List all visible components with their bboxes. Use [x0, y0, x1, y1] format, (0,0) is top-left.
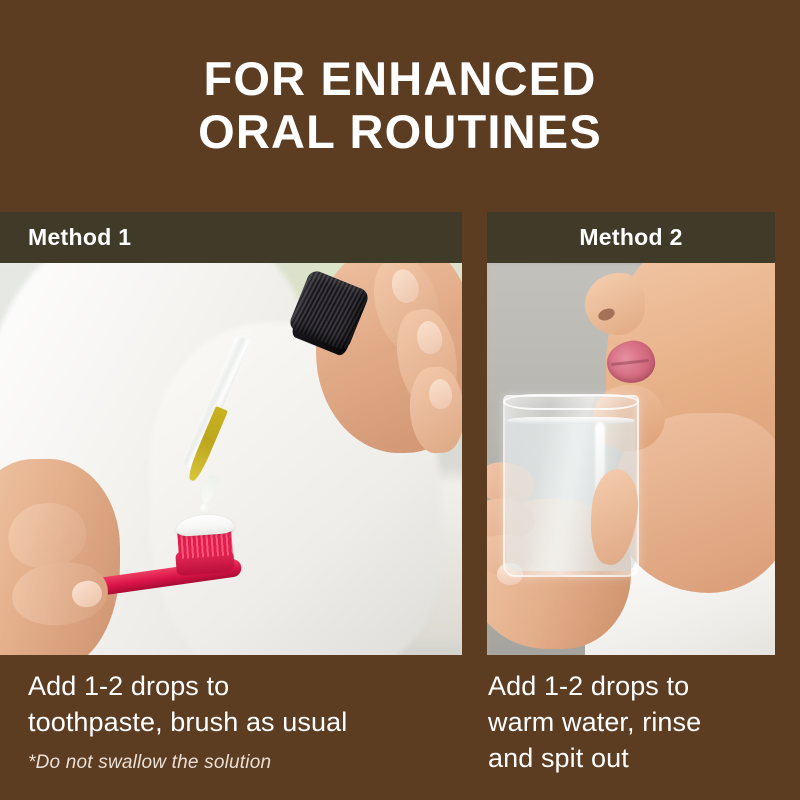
- method-1-caption: Add 1-2 drops to toothpaste, brush as us…: [28, 668, 458, 740]
- title-line-2: ORAL ROUTINES: [0, 105, 800, 158]
- disclaimer-note: *Do not swallow the solution: [28, 752, 271, 774]
- method-2-label: Method 2: [579, 224, 682, 251]
- method-panel-2: Method 2: [487, 212, 775, 655]
- page-title: FOR ENHANCED ORAL ROUTINES: [0, 52, 800, 158]
- caption-1-line-1: Add 1-2 drops to: [28, 668, 458, 704]
- method-1-label: Method 1: [28, 224, 131, 251]
- method-panel-1: Method 1: [0, 212, 462, 655]
- method-2-bar: Method 2: [487, 212, 775, 263]
- glass-rim: [503, 394, 639, 410]
- caption-2-line-3: and spit out: [488, 740, 778, 776]
- water-surface: [507, 417, 635, 424]
- caption-2-line-2: warm water, rinse: [488, 704, 778, 740]
- method-1-photo: [0, 263, 462, 655]
- title-line-1: FOR ENHANCED: [0, 52, 800, 105]
- caption-1-line-2: toothpaste, brush as usual: [28, 704, 458, 740]
- method-2-photo: [487, 263, 775, 655]
- method-2-caption: Add 1-2 drops to warm water, rinse and s…: [488, 668, 778, 776]
- method-1-bar: Method 1: [0, 212, 462, 263]
- nose: [585, 273, 645, 335]
- infographic-page: FOR ENHANCED ORAL ROUTINES Method 1: [0, 0, 800, 800]
- caption-2-line-1: Add 1-2 drops to: [488, 668, 778, 704]
